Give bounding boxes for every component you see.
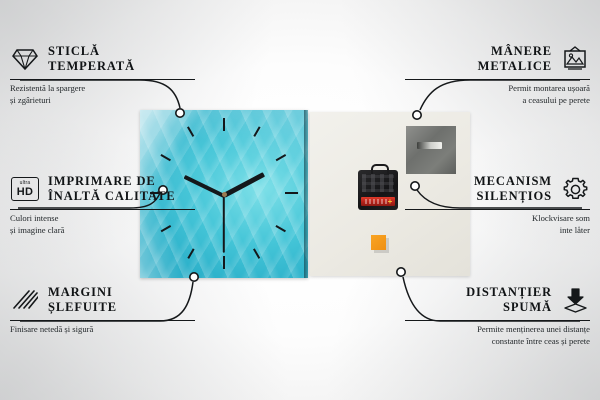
- ultra-hd-badge-small-text: ultra: [20, 181, 31, 186]
- clock-tick: [276, 225, 286, 232]
- clock-center-cap: [222, 192, 227, 197]
- feature-title: MARGINI ȘLEFUITE: [48, 285, 117, 315]
- feature-subtitle: Permit montarea ușoară a ceasului pe per…: [405, 83, 590, 106]
- foam-spacer-icon: [560, 285, 590, 315]
- feature-title: DISTANȚIER SPUMĂ: [466, 285, 552, 315]
- clock-tick: [223, 118, 225, 131]
- feature-imprimare-inalta-calitate: ultra HD IMPRIMARE DE ÎNALTĂ CALITATE Cu…: [10, 172, 195, 236]
- clock-hour-hand: [223, 172, 265, 197]
- foam-spacer: [371, 235, 386, 250]
- battery-plus-terminal: +: [387, 198, 393, 205]
- feature-header: MÂNERE METALICE: [405, 42, 590, 76]
- movement-grid: [362, 174, 394, 192]
- feature-divider: [10, 79, 195, 80]
- feature-title: STICLĂ TEMPERATĂ: [48, 44, 135, 74]
- ultra-hd-badge: ultra HD: [11, 177, 39, 201]
- feature-header: DISTANȚIER SPUMĂ: [405, 283, 590, 317]
- clock-tick: [253, 248, 260, 258]
- feature-header: STICLĂ TEMPERATĂ: [10, 42, 195, 76]
- gear-icon: [560, 174, 590, 204]
- feature-title: IMPRIMARE DE ÎNALTĂ CALITATE: [48, 174, 176, 204]
- panel-edge: [304, 110, 308, 278]
- clock-movement-box: +: [358, 170, 398, 210]
- feature-header: ultra HD IMPRIMARE DE ÎNALTĂ CALITATE: [10, 172, 195, 206]
- feature-divider: [405, 209, 590, 210]
- feature-manere-metalice: MÂNERE METALICE Permit montarea ușoară a…: [405, 42, 590, 106]
- feature-mecanism-silentios: MECANISM SILENȚIOS Klockvisare som inte …: [405, 172, 590, 236]
- hanger-slot: [417, 142, 442, 149]
- infographic-canvas: + STICLĂ: [0, 0, 600, 400]
- feature-header: MECANISM SILENȚIOS: [405, 172, 590, 206]
- feature-subtitle: Permite menținerea unei distanțe constan…: [405, 324, 590, 347]
- feature-subtitle: Klockvisare som inte låter: [405, 213, 590, 236]
- feature-margini-slefuite: MARGINI ȘLEFUITE Finisare netedă și sigu…: [10, 283, 195, 336]
- clock-second-hand: [223, 195, 225, 253]
- ultra-hd-badge-main-text: HD: [17, 187, 34, 198]
- clock-tick: [187, 126, 194, 136]
- battery-label: [365, 199, 387, 204]
- clock-tick: [285, 192, 298, 194]
- polished-edges-icon: [10, 285, 40, 315]
- feature-divider: [405, 79, 590, 80]
- metal-hanger-plate: [406, 126, 456, 174]
- feature-header: MARGINI ȘLEFUITE: [10, 283, 195, 317]
- feature-divider: [10, 209, 195, 210]
- battery: +: [361, 197, 395, 206]
- feature-divider: [405, 320, 590, 321]
- clock-tick: [253, 126, 260, 136]
- clock-tick: [276, 154, 286, 161]
- picture-hanger-icon: [560, 44, 590, 74]
- feature-sticla-temperata: STICLĂ TEMPERATĂ Rezistentă la spargere …: [10, 42, 195, 106]
- feature-subtitle: Rezistentă la spargere și zgârieturi: [10, 83, 195, 106]
- feature-divider: [10, 320, 195, 321]
- clock-tick: [223, 256, 225, 269]
- feature-distantier-spuma: DISTANȚIER SPUMĂ Permite menținerea unei…: [405, 283, 590, 347]
- ultra-hd-icon: ultra HD: [10, 174, 40, 204]
- movement-hook: [371, 164, 389, 174]
- clock-tick: [161, 154, 171, 161]
- diamond-icon: [10, 44, 40, 74]
- feature-subtitle: Finisare netedă și sigură: [10, 324, 195, 335]
- feature-subtitle: Culori intense și imagine clară: [10, 213, 195, 236]
- feature-title: MECANISM SILENȚIOS: [474, 174, 552, 204]
- clock-tick: [187, 248, 194, 258]
- feature-title: MÂNERE METALICE: [478, 44, 552, 74]
